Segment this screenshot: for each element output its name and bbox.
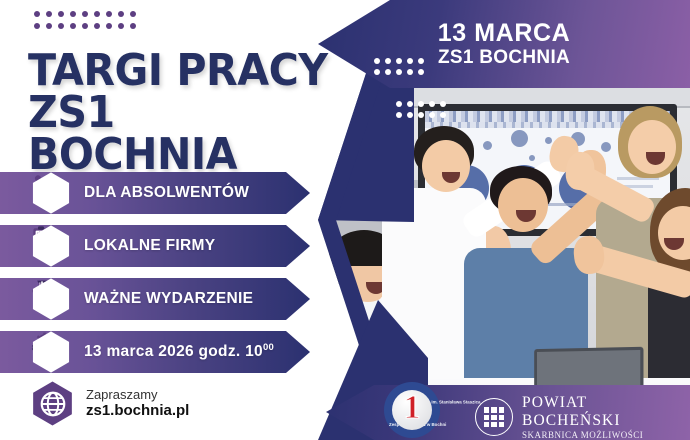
school-seal: Zespół Szkół Nr 1 w Bochni im. Stanisław… [384,382,440,438]
seal-number: 1 [384,380,440,436]
feature-bar-datetime[interactable]: 13 marca 2026 godz. 1000 [0,331,310,373]
graduates-hex [30,172,72,214]
datetime-minutes: 00 [263,342,274,353]
county-text-group: POWIAT BOCHEŃSKI SKARBNICA MOŻLIWOŚCI [522,394,690,440]
poster-title: TARGI PRACY ZS1 BOCHNIA [28,50,330,177]
county-tagline: SKARBNICA MOŻLIWOŚCI [522,430,690,440]
feature-label: 13 marca 2026 godz. 1000 [84,342,274,361]
event-hex [30,278,72,320]
globe-hex [30,381,75,426]
feature-bar-graduates[interactable]: DLA ABSOLWENTÓW [0,172,310,214]
globe-icon [40,391,66,417]
feature-label: LOKALNE FIRMY [84,237,215,255]
event-place: ZS1 BOCHNIA [438,48,570,67]
invite-label: Zapraszamy [86,387,189,402]
dots-navy-b [396,101,451,123]
footer-text-group: Zapraszamy zs1.bochnia.pl [86,387,189,420]
website-url[interactable]: zs1.bochnia.pl [86,402,189,420]
poster-canvas: 13 MARCA ZS1 BOCHNIA TARGI PRACY ZS1 BOC… [0,0,690,440]
companies-hex [30,225,72,267]
datetime-hex [30,331,72,373]
feature-bar-list: DLA ABSOLWENTÓW LOKALNE FIRMY [0,172,310,384]
county-name: POWIAT BOCHEŃSKI [522,394,690,430]
powiat-bochenski-logo [475,398,513,436]
datetime-text: 13 marca 2026 godz. 10 [84,344,263,361]
feature-label: WAŻNE WYDARZENIE [84,290,253,308]
title-line-1: TARGI PRACY [28,50,330,92]
feature-bar-event[interactable]: WAŻNE WYDARZENIE [0,278,310,320]
title-line-2: ZS1 BOCHNIA [28,92,330,176]
dots-navy-a [374,58,429,80]
dots-top-left [34,11,142,35]
county-logo-group: POWIAT BOCHEŃSKI SKARBNICA MOŻLIWOŚCI [475,394,690,440]
website-footer[interactable]: Zapraszamy zs1.bochnia.pl [30,381,189,426]
feature-label: DLA ABSOLWENTÓW [84,184,249,202]
event-date: 13 MARCA [438,21,571,46]
feature-bar-companies[interactable]: LOKALNE FIRMY [0,225,310,267]
